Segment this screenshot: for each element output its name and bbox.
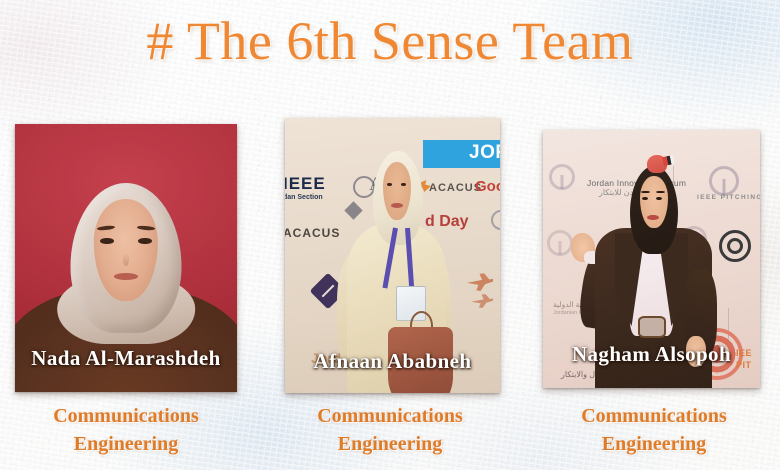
eye-right <box>138 238 151 244</box>
day-logo-text: d Day <box>425 213 469 231</box>
member-caption-3: Communications Engineering <box>528 402 780 458</box>
mouth-shape <box>114 273 138 280</box>
caption-line-1: Communications <box>317 405 463 427</box>
caption-line-2: Engineering <box>528 430 780 458</box>
acacus-logo-text-1: ACACUS <box>285 226 340 240</box>
member-card-2[interactable]: IEEE dan Section ACACUS JORD ACACUS Goo … <box>285 118 500 393</box>
pitching-p-icon-4 <box>547 230 573 256</box>
caption-line-1: Communications <box>53 405 199 427</box>
face-shape <box>383 162 411 220</box>
pitching-p-icon-1 <box>549 164 575 190</box>
face-shape <box>640 176 668 228</box>
pitching-p-icon-2 <box>709 166 739 196</box>
member-name-3: Nagham Alsopoh <box>543 342 760 366</box>
jordan-logo-text: JORD <box>469 142 500 164</box>
ieee-logo-text: IEEE <box>285 174 326 194</box>
member-card-1[interactable]: Nada Al-Marashdeh <box>15 124 237 392</box>
caption-line-2: Engineering <box>264 430 516 458</box>
google-logo-text: Goo <box>475 178 500 195</box>
member-caption-2: Communications Engineering <box>264 402 516 458</box>
ieee-pitching-text: IEEE PITCHING <box>697 194 760 201</box>
jordan-section-text: dan Section <box>285 194 323 201</box>
caption-line-1: Communications <box>581 405 727 427</box>
member-name-2: Afnaan Ababneh <box>285 349 500 373</box>
member-card-3[interactable]: Jordan Innovation Forum ملتقى الأردن للا… <box>543 130 760 388</box>
member-caption-1: Communications Engineering <box>0 402 252 458</box>
crest-icon <box>719 230 751 262</box>
belt-buckle <box>638 316 666 338</box>
eyebrow-left <box>641 191 650 194</box>
page-title: # The 6th Sense Team <box>0 8 780 74</box>
caption-line-2: Engineering <box>0 430 252 458</box>
team-poster: # The 6th Sense Team Nada Al-Marashdeh C… <box>0 0 780 470</box>
member-name-1: Nada Al-Marashdeh <box>15 346 237 370</box>
